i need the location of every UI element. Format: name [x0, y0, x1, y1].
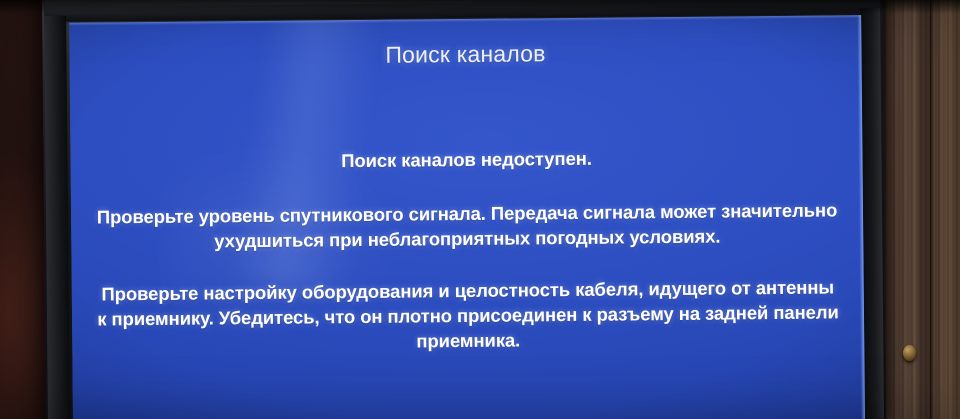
page-title: Поиск каналов — [69, 37, 861, 72]
door-edge — [930, 0, 935, 419]
osd-overlay: Поиск каналов Поиск каналов недоступен. … — [69, 15, 865, 419]
television: Поиск каналов Поиск каналов недоступен. … — [42, 0, 886, 419]
status-message: Поиск каналов недоступен. — [94, 143, 838, 175]
photo-top-shadow — [0, 0, 960, 14]
photo-scene: Поиск каналов Поиск каналов недоступен. … — [0, 0, 960, 419]
door-knob-icon — [903, 345, 916, 361]
cable-advice-message: Проверьте настройку оборудования и целос… — [96, 274, 841, 356]
message-body: Поиск каналов недоступен. Проверьте уров… — [94, 143, 840, 356]
signal-advice-message: Проверьте уровень спутникового сигнала. … — [95, 197, 839, 254]
tv-bezel-left — [44, 16, 70, 419]
tv-screen: Поиск каналов Поиск каналов недоступен. … — [69, 15, 865, 419]
